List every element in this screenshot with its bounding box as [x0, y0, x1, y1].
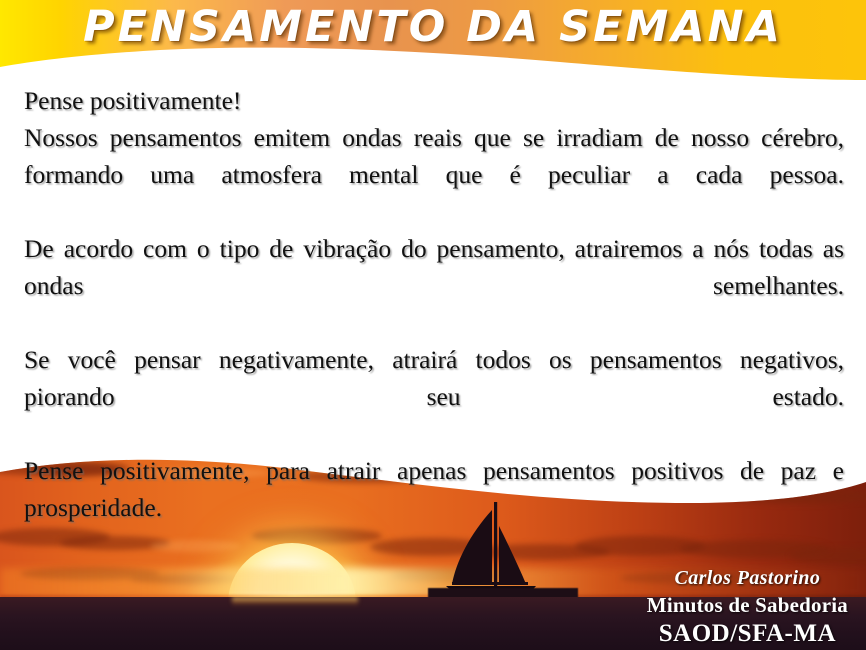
sun-reflection [232, 597, 358, 606]
attribution-block: Carlos Pastorino Minutos de Sabedoria SA… [647, 565, 848, 648]
credit-organization: SAOD/SFA-MA [647, 619, 848, 648]
credit-author: Carlos Pastorino [647, 565, 848, 591]
header-banner: PENSAMENTO DA SEMANA [0, 0, 866, 86]
credit-source: Minutos de Sabedoria [647, 591, 848, 619]
slide-canvas: PENSAMENTO DA SEMANA Pense positivamente… [0, 0, 866, 650]
quote-paragraph-3: De acordo com o tipo de vibração do pens… [24, 230, 844, 341]
quote-body: Pense positivamente! Nossos pensamentos … [24, 82, 844, 563]
quote-paragraph-1: Pense positivamente! [24, 82, 844, 119]
page-title: PENSAMENTO DA SEMANA [0, 2, 866, 52]
quote-paragraph-4: Se você pensar negativamente, atrairá to… [24, 341, 844, 452]
quote-paragraph-5: Pense positivamente, para atrair apenas … [24, 452, 844, 563]
quote-paragraph-2: Nossos pensamentos emitem ondas reais qu… [24, 119, 844, 230]
